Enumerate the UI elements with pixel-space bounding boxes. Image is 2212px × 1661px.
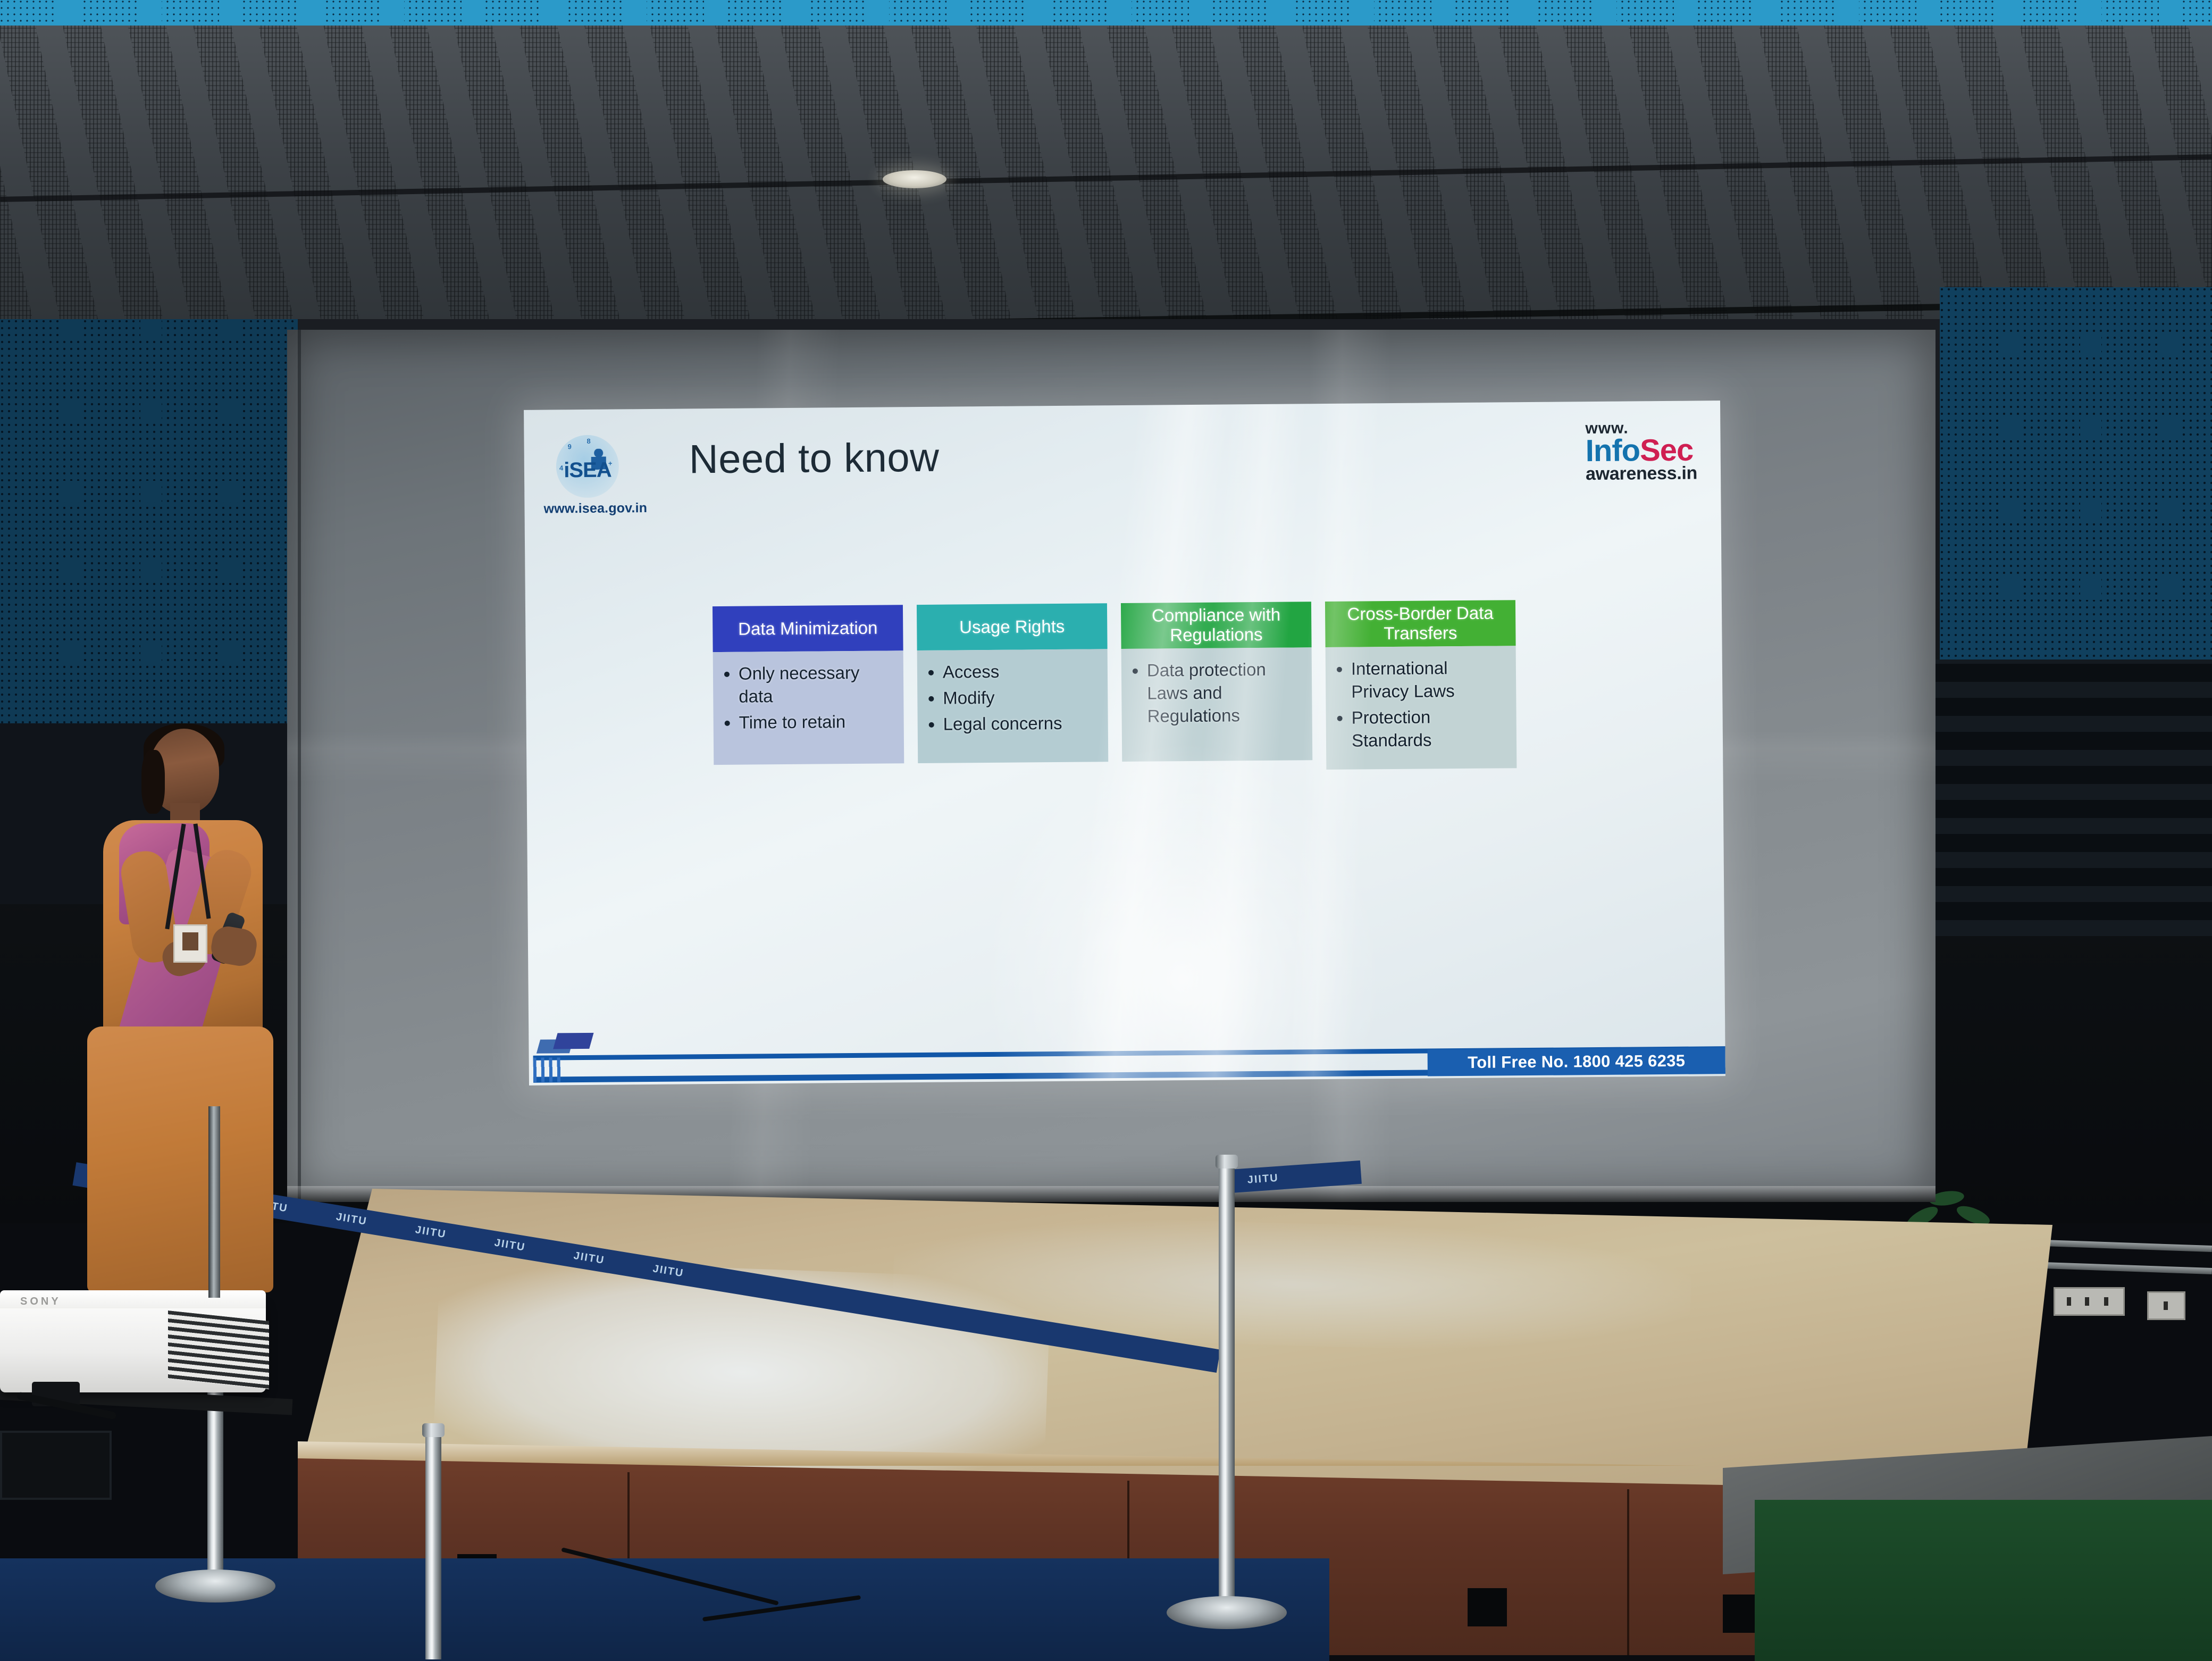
belt-text: JIITU	[1222, 1170, 1303, 1188]
ceiling-perforation-texture	[0, 26, 2212, 345]
presenter-person	[69, 729, 292, 1292]
projected-slide: 9 8 4 + iSEA www.isea.gov.in Need to kno…	[524, 400, 1725, 1086]
toll-free-badge: Toll Free No. 1800 425 6235	[1428, 1047, 1725, 1076]
footer-tick-marks-icon	[533, 1057, 562, 1082]
isea-logo-icon: 9 8 4 + iSEA	[556, 435, 620, 499]
presenter-saree-skirt	[87, 1026, 273, 1292]
slide-title: Need to know	[689, 435, 939, 483]
projector-device[interactable]: SONY	[0, 1302, 276, 1414]
auditorium-scene: 9 8 4 + iSEA www.isea.gov.in Need to kno…	[0, 0, 2212, 1661]
isea-url: www.isea.gov.in	[543, 500, 647, 517]
card-bullet: Modify	[943, 686, 1100, 710]
card-cross-border-data-transfers: Cross-Border Data Transfers Internationa…	[1325, 600, 1516, 769]
card-usage-rights: Usage Rights Access Modify Legal concern…	[917, 603, 1108, 763]
infosec-sec-text: Sec	[1640, 433, 1694, 468]
projector-vent-icon	[168, 1311, 269, 1389]
isea-wordmark: iSEA	[559, 460, 616, 481]
ceiling-blue-band-perforation	[0, 0, 2212, 28]
card-bullet: Data protection Laws and Regulations	[1147, 658, 1305, 728]
card-body: Access Modify Legal concerns	[917, 649, 1109, 763]
slide-card-row: Data Minimization Only necessary data Ti…	[713, 600, 1516, 774]
card-title: Usage Rights	[917, 603, 1108, 650]
acoustic-panel-right-texture	[1940, 287, 2212, 660]
av-equipment-box	[0, 1431, 112, 1500]
presenter-id-badge	[173, 924, 207, 963]
projection-screen-left-edge	[298, 330, 301, 1202]
floor-green-mat	[1755, 1500, 2212, 1661]
stage-vent	[1468, 1588, 1507, 1626]
mic-stand-pole	[208, 1106, 220, 1298]
presenter-hair-side	[141, 750, 165, 814]
infosec-domain-text: awareness.in	[1586, 464, 1697, 483]
ceiling-light-icon	[883, 170, 946, 188]
card-bullet: International Privacy Laws	[1351, 656, 1509, 703]
slide-corner-mark-icon	[538, 1032, 591, 1054]
card-data-minimization: Data Minimization Only necessary data Ti…	[713, 605, 904, 765]
infosec-awareness-logo: www. InfoSec awareness.in	[1585, 420, 1697, 483]
power-outlet[interactable]	[2054, 1287, 2125, 1316]
projector-brand-label: SONY	[20, 1296, 61, 1308]
card-body: Data protection Laws and Regulations	[1121, 647, 1313, 762]
card-body: International Privacy Laws Protection St…	[1326, 646, 1517, 769]
card-compliance-with-regulations: Compliance with Regulations Data protect…	[1121, 602, 1312, 762]
card-bullet: Access	[943, 660, 1100, 683]
card-bullet: Time to retain	[739, 710, 896, 734]
stage-panel-seam	[1627, 1489, 1629, 1655]
card-title: Compliance with Regulations	[1121, 602, 1312, 649]
power-outlet[interactable]	[2147, 1291, 2185, 1320]
acoustic-panel-left-texture	[0, 319, 298, 723]
card-bullet: Protection Standards	[1351, 705, 1509, 752]
card-title: Cross-Border Data Transfers	[1325, 600, 1516, 647]
card-bullet: Only necessary data	[739, 661, 896, 708]
card-title: Data Minimization	[713, 605, 903, 652]
card-body: Only necessary data Time to retain	[713, 650, 904, 765]
infosec-info-text: Info	[1585, 433, 1640, 468]
card-bullet: Legal concerns	[943, 712, 1101, 736]
